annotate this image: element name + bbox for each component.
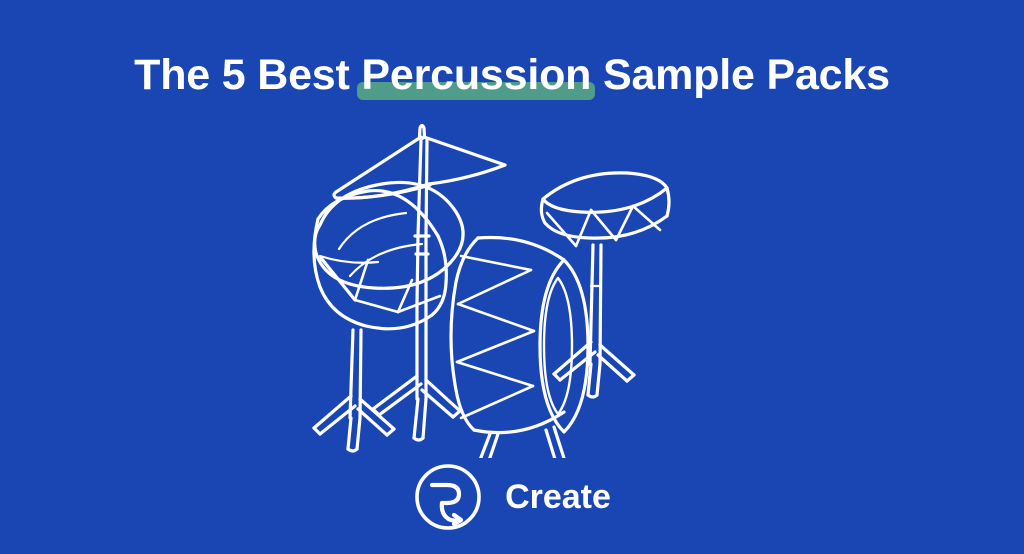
promo-graphic-canvas: The 5 Best Percussion Sample Packs xyxy=(0,0,1024,554)
title-segment-before: The 5 Best xyxy=(134,51,361,99)
title-highlight-label: Percussion xyxy=(361,51,591,99)
center-bass-drum xyxy=(451,237,588,458)
right-snare-drum xyxy=(541,173,669,397)
title-highlight-percussion: Percussion xyxy=(361,47,591,103)
left-tom-drum xyxy=(314,182,463,451)
drum-kit-illustration xyxy=(300,118,690,458)
brand-name: Create xyxy=(505,462,611,532)
page-title: The 5 Best Percussion Sample Packs xyxy=(0,47,1024,103)
brand-lockup: Create xyxy=(0,458,1024,536)
title-segment-after: Sample Packs xyxy=(591,51,890,99)
title-text: The 5 Best Percussion Sample Packs xyxy=(134,47,890,103)
r-circle-arrow-logo-icon xyxy=(413,462,483,532)
